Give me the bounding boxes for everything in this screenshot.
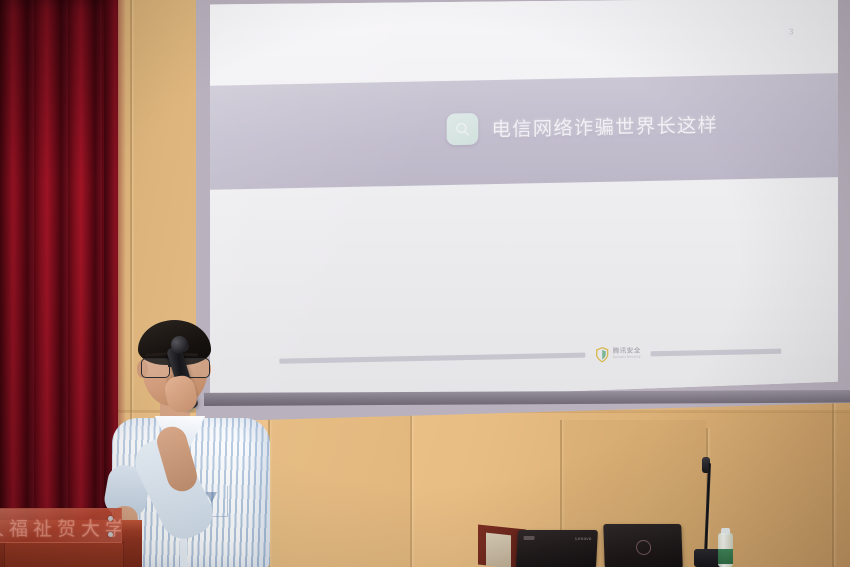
brand-logo: 腾讯安全 Tencent Security: [595, 346, 641, 362]
wall-seam: [410, 412, 412, 567]
laptop-brand-label: Lenovo: [575, 536, 591, 541]
banner-standoff: [108, 532, 113, 537]
brand-name-en: Tencent Security: [613, 356, 641, 360]
laptop-lenovo: Lenovo: [516, 530, 598, 567]
slide-title-row: 电信网络诈骗世界长这样: [447, 108, 719, 145]
podium-banner: 人福祉贺大学: [0, 508, 122, 543]
presentation-slide: 3 电信网络诈骗世界长这样: [210, 0, 838, 404]
auditorium-presentation-photo: 3 电信网络诈骗世界长这样: [0, 0, 850, 567]
footer-rule-right: [651, 348, 782, 356]
magnifier-icon: [447, 113, 479, 145]
banner-standoff: [108, 516, 113, 521]
slide-footer: 腾讯安全 Tencent Security: [210, 340, 838, 371]
banner-glass-overlay: [0, 509, 121, 542]
podium-front-panel: [4, 542, 124, 567]
brand-text: 腾讯安全 Tencent Security: [613, 348, 641, 359]
stage-curtain: [0, 0, 118, 525]
chair-cushion: [486, 533, 511, 567]
slide-heading: 电信网络诈骗世界长这样: [492, 110, 719, 142]
hp-logo-icon: [636, 540, 652, 555]
glasses-lens: [141, 358, 170, 378]
footer-rule-left: [279, 352, 585, 363]
laptop-hp: [603, 524, 683, 567]
shield-icon: [595, 346, 608, 362]
water-bottle-label: [718, 549, 733, 564]
laptop-badge: [523, 536, 534, 540]
screen-surface: 3 电信网络诈骗世界长这样: [210, 0, 838, 404]
slide-page-number: 3: [789, 27, 794, 36]
